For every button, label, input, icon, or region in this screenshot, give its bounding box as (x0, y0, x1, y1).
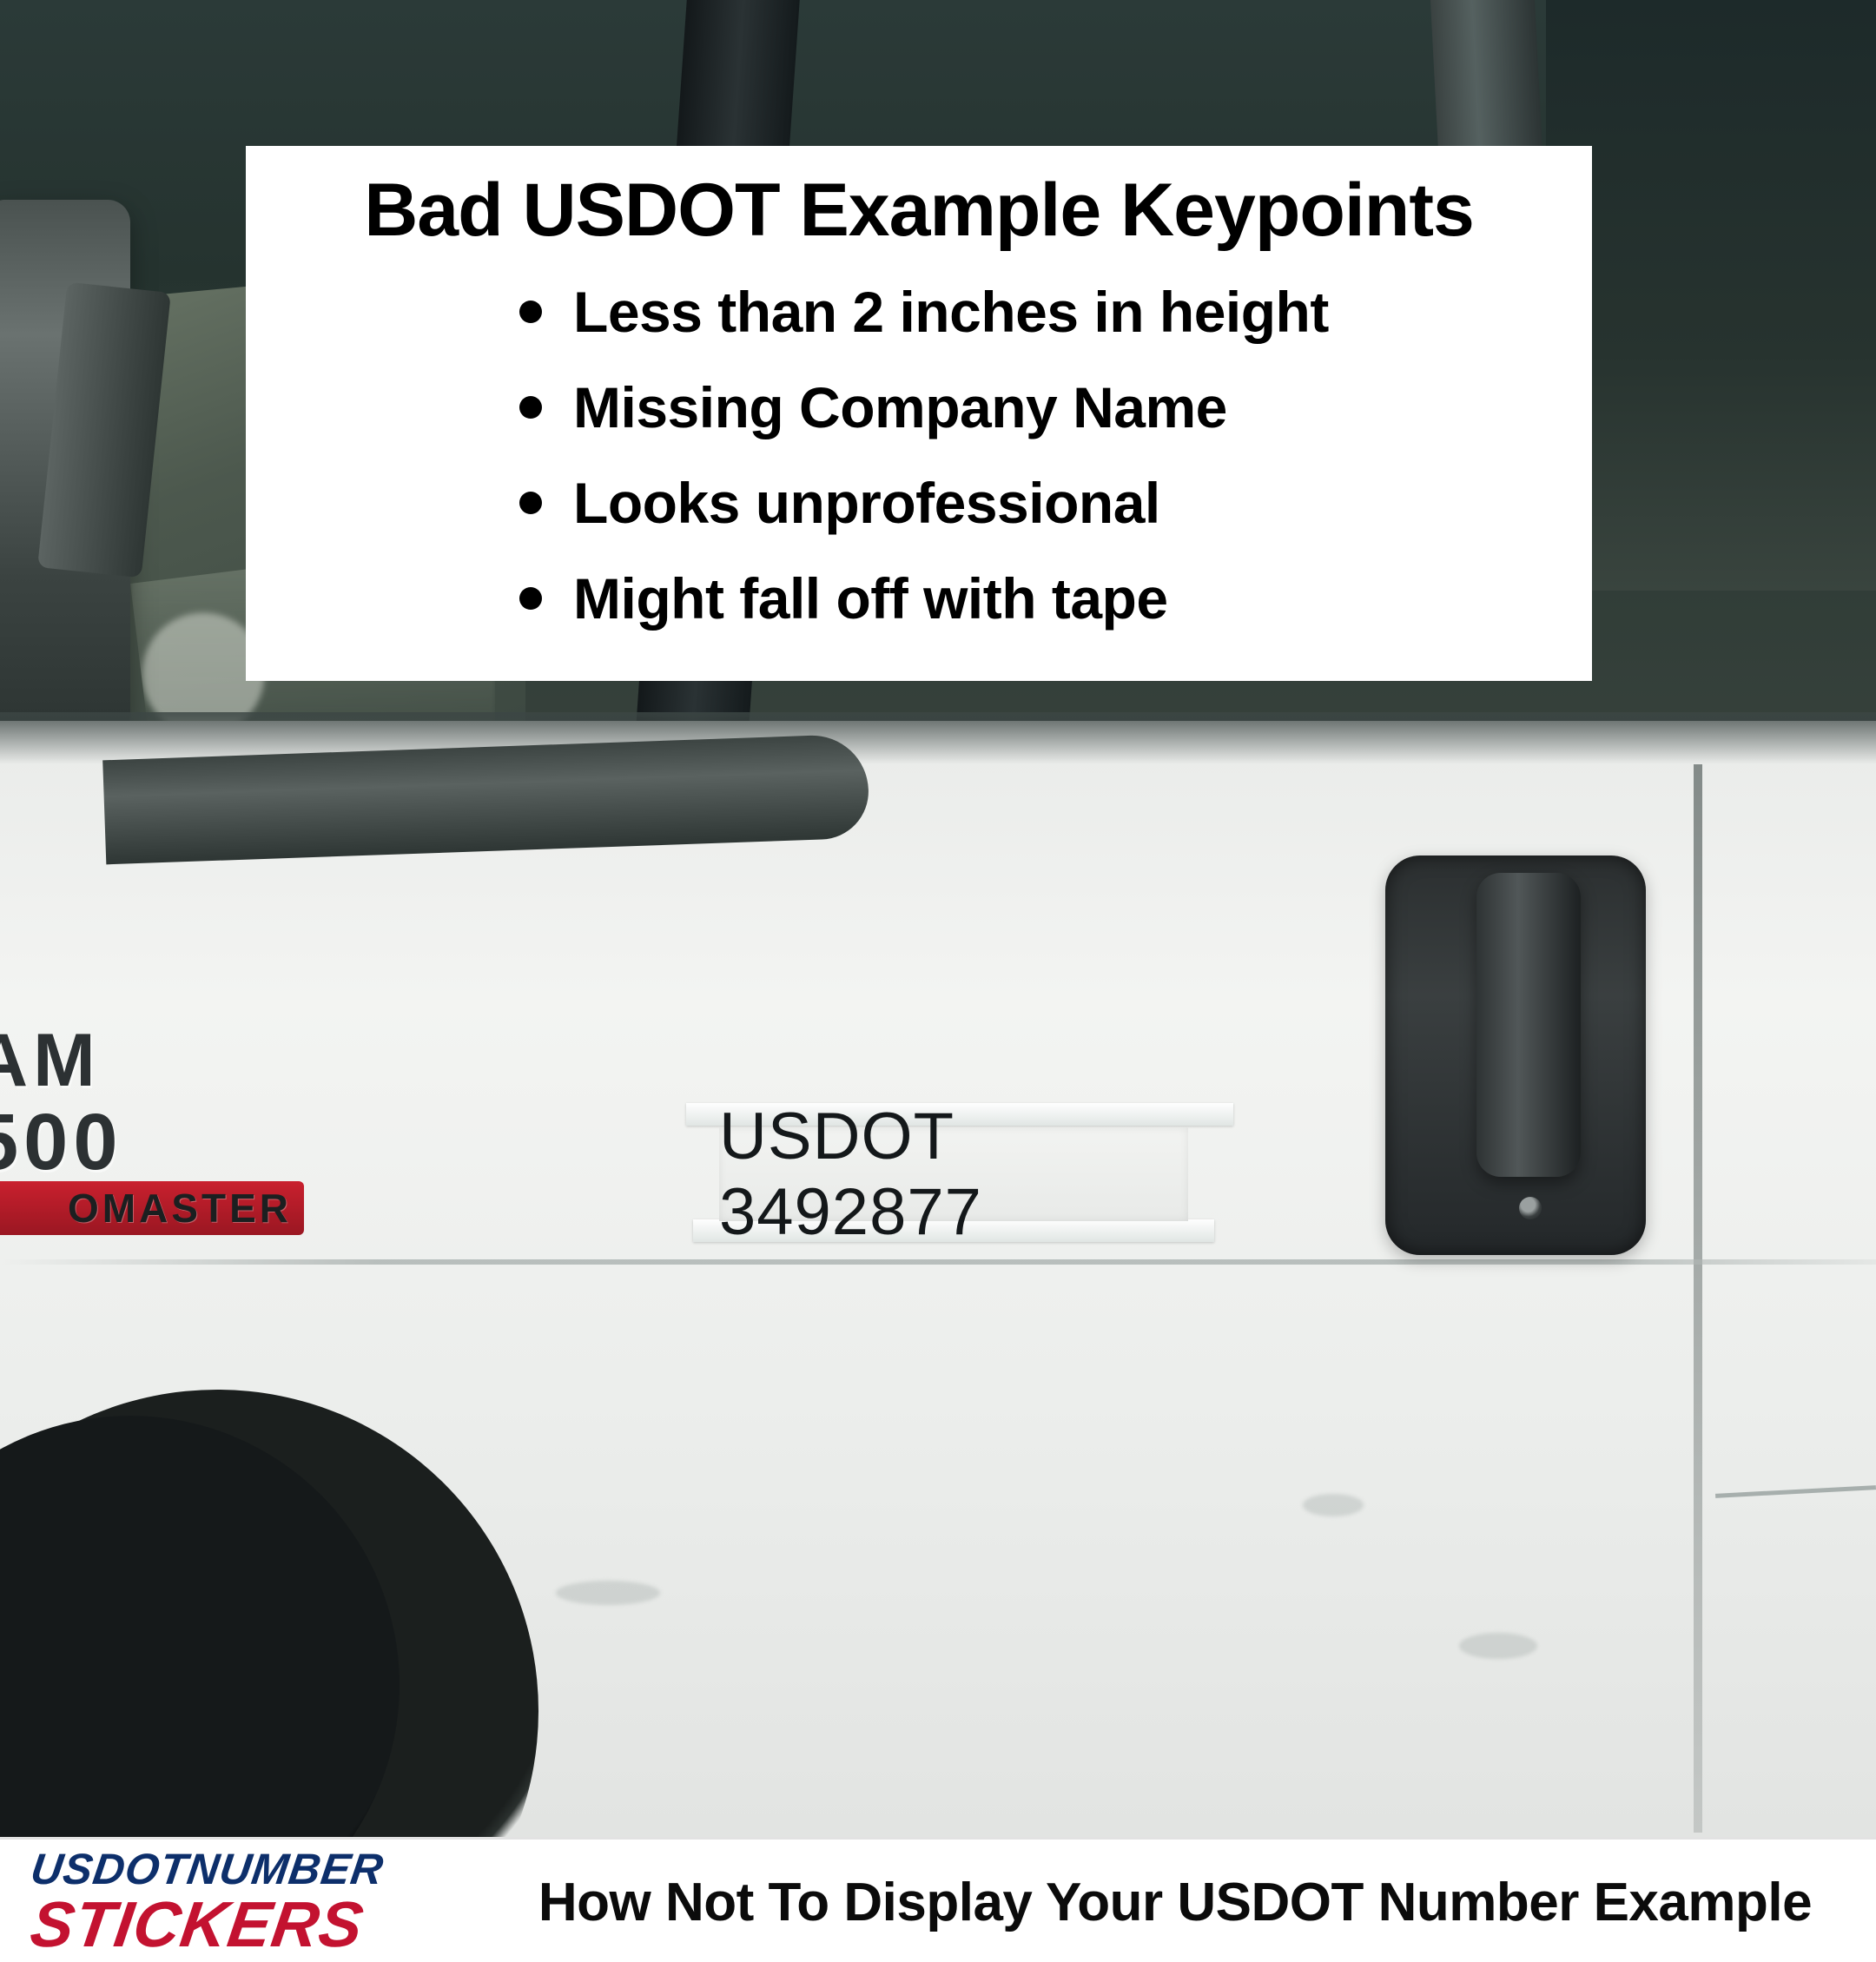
usdot-number-plate: USDOT 3492877 (719, 1127, 1188, 1221)
bullet-dot-icon (519, 492, 542, 514)
callout-title: Bad USDOT Example Keypoints (281, 167, 1557, 254)
vehicle-model-badge: AM 500 (0, 1021, 304, 1184)
list-item: Less than 2 inches in height (281, 264, 1557, 360)
taped-usdot-sticker: USDOT 3492877 (686, 1101, 1233, 1245)
list-item-label: Looks unprofessional (573, 455, 1160, 551)
dirt-smudge (1303, 1494, 1364, 1516)
door-seam (1694, 764, 1702, 1833)
keypoints-list: Less than 2 inches in height Missing Com… (281, 264, 1557, 646)
list-item: Missing Company Name (281, 360, 1557, 455)
brand-logo: USDOTNUMBER STICKERS (31, 1847, 492, 1957)
bullet-dot-icon (519, 301, 542, 323)
dirt-smudge (556, 1581, 660, 1605)
vehicle-trim-badge: OMASTER (0, 1181, 304, 1235)
body-crease-line (0, 1259, 1876, 1265)
list-item: Might fall off with tape (281, 551, 1557, 646)
bullet-dot-icon (519, 587, 542, 610)
image-canvas: AM 500 OMASTER USDOT 3492877 Bad USDOT E… (0, 0, 1876, 1962)
footer-caption: How Not To Display Your USDOT Number Exa… (492, 1872, 1876, 1933)
footer-bar: USDOTNUMBER STICKERS How Not To Display … (0, 1837, 1876, 1962)
brand-logo-line1: USDOTNUMBER (28, 1847, 386, 1891)
dirt-smudge (1459, 1633, 1537, 1659)
list-item-label: Might fall off with tape (573, 551, 1168, 646)
list-item-label: Missing Company Name (573, 360, 1227, 455)
badge-text-line2: 500 (0, 1100, 304, 1184)
badge-text-line1: AM (0, 1021, 304, 1100)
list-item: Looks unprofessional (281, 455, 1557, 551)
keypoints-callout-card: Bad USDOT Example Keypoints Less than 2 … (246, 146, 1592, 681)
door-handle (1476, 873, 1581, 1177)
brand-logo-line2: STICKERS (27, 1893, 368, 1957)
usdot-number-text: USDOT 3492877 (719, 1099, 1188, 1250)
list-item-label: Less than 2 inches in height (573, 264, 1329, 360)
bullet-dot-icon (519, 396, 542, 419)
door-lock-keyhole (1519, 1197, 1542, 1219)
rear-door-glass (1546, 0, 1876, 591)
